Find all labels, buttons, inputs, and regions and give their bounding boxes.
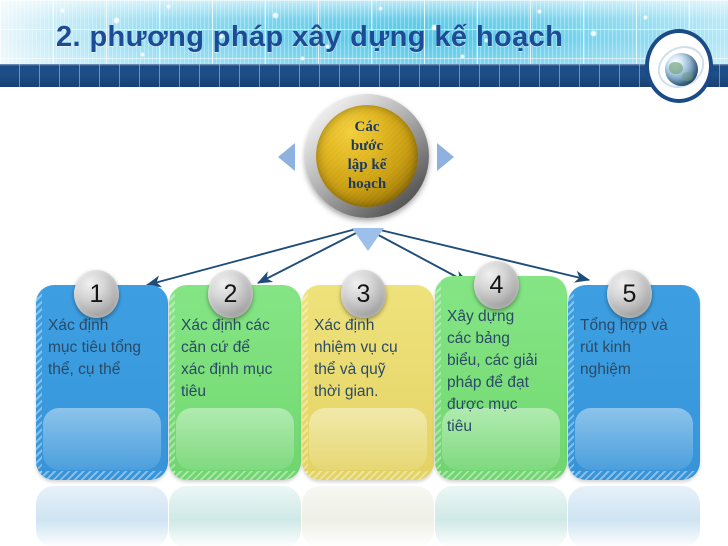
step-reflection (36, 486, 168, 546)
step-box-hatch (435, 471, 567, 480)
center-node-label: Các bước lập kế hoạch (348, 118, 387, 194)
step-reflection (169, 486, 301, 546)
step-box-hatch (169, 471, 301, 480)
step-reflection (568, 486, 700, 546)
step-box-hatch (568, 471, 700, 480)
triangle-left-icon (278, 143, 295, 171)
page-title: 2. phương pháp xây dựng kế hoạch (56, 21, 563, 54)
step-reflection (435, 486, 567, 546)
globe-sphere (665, 53, 698, 86)
step-badge-2: 2 (208, 270, 253, 318)
triangle-down-icon (352, 228, 384, 251)
step-badge-5: 5 (607, 270, 652, 318)
step-badge-4: 4 (474, 261, 519, 309)
step-box-gloss (176, 408, 294, 470)
step-box-gloss (309, 408, 427, 470)
step-box-gloss (43, 408, 161, 470)
step-box-hatch (302, 471, 434, 480)
triangle-right-icon (437, 143, 454, 171)
accent-bar-segments (0, 64, 728, 87)
center-node[interactable]: Các bước lập kế hoạch (305, 94, 429, 218)
header-banner: 2. phương pháp xây dựng kế hoạch (0, 0, 728, 64)
step-reflection (302, 486, 434, 546)
step-badge-3: 3 (341, 270, 386, 318)
step-badge-1: 1 (74, 270, 119, 318)
globe-icon (645, 29, 713, 103)
slide-canvas: 2. phương pháp xây dựng kế hoạch Các bướ… (0, 0, 728, 546)
header-accent-bar (0, 64, 728, 87)
step-box-hatch (36, 471, 168, 480)
step-box-gloss (575, 408, 693, 470)
center-node-fill: Các bước lập kế hoạch (316, 105, 418, 207)
